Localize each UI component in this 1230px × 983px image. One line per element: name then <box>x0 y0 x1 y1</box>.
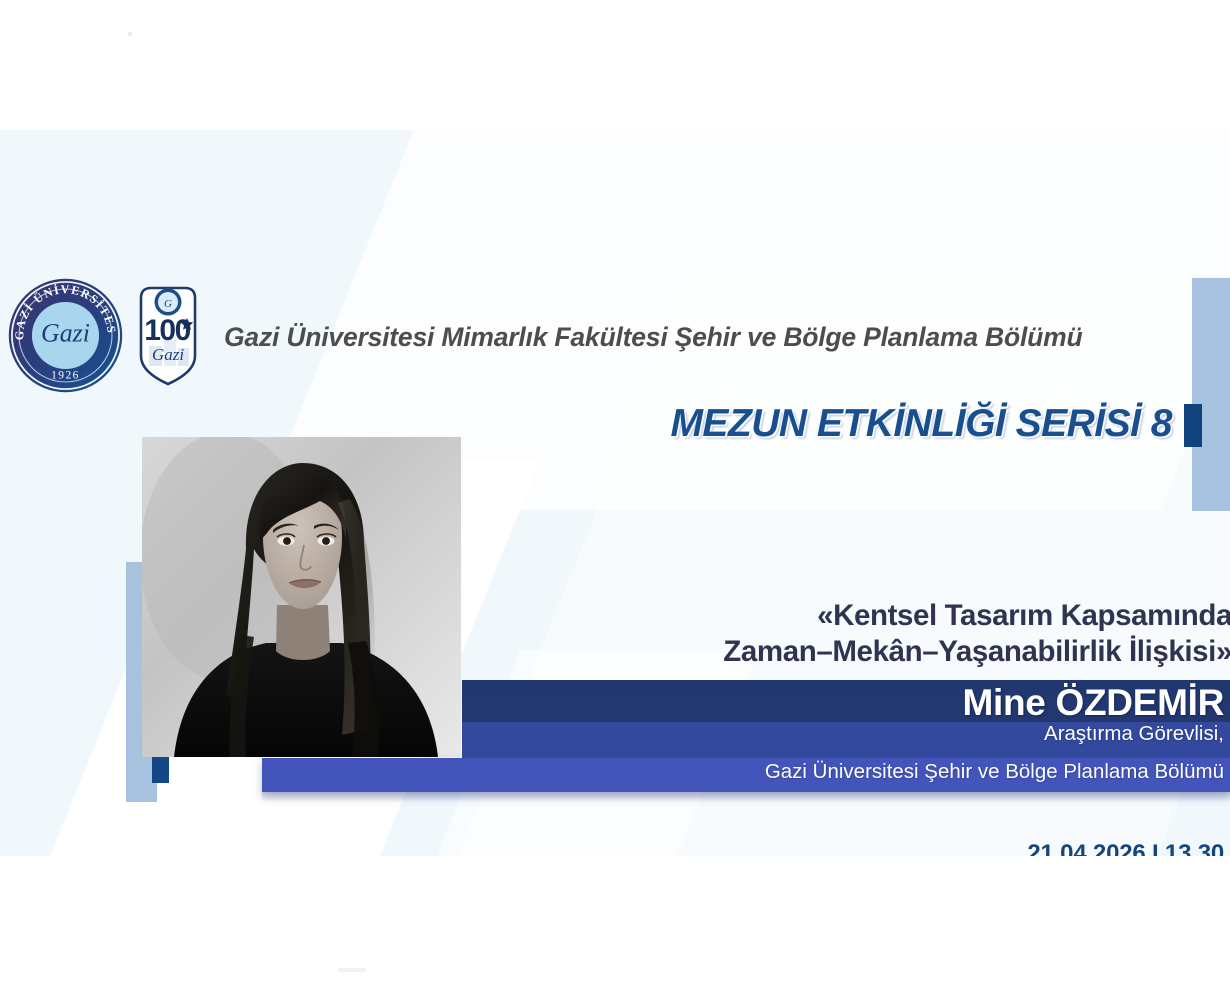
svg-text:100: 100 <box>144 314 190 347</box>
accent-bar-right-light <box>1192 278 1230 511</box>
talk-title-line-1: «Kentsel Tasarım Kapsamında <box>420 598 1230 634</box>
talk-title-line-2: Zaman–Mekân–Yaşanabilirlik İlişkisi» <box>420 634 1230 670</box>
speaker-role-line-1: Araştırma Görevlisi, <box>500 722 1224 746</box>
event-datetime: 21.04.2026 I 13.30 <box>300 840 1224 856</box>
speaker-role-line-2: Gazi Üniversitesi Şehir ve Bölge Planlam… <box>400 760 1224 784</box>
accent-bar-right-dark <box>1184 404 1202 447</box>
page-artifact-bottom-mark <box>338 968 366 972</box>
svg-text:Gazi: Gazi <box>41 318 90 347</box>
department-line: Gazi Üniversitesi Mimarlık Fakültesi Şeh… <box>224 322 1184 353</box>
svg-text:1926: 1926 <box>51 370 80 382</box>
speaker-photo <box>142 437 461 757</box>
logo-row: GAZİ ÜNİVERSİTESİ Gazi 1926 G 100 Gazi <box>8 278 199 393</box>
poster-root: GAZİ ÜNİVERSİTESİ Gazi 1926 G 100 Gazi <box>0 0 1230 983</box>
gazi-100th-anniversary-badge-icon: G 100 Gazi <box>137 284 199 388</box>
svg-text:Gazi: Gazi <box>152 345 184 364</box>
name-banner-shadow <box>262 792 1230 802</box>
gazi-university-seal-icon: GAZİ ÜNİVERSİTESİ Gazi 1926 <box>8 278 123 393</box>
slide-canvas: GAZİ ÜNİVERSİTESİ Gazi 1926 G 100 Gazi <box>0 130 1230 856</box>
svg-text:G: G <box>164 298 172 310</box>
talk-title: «Kentsel Tasarım Kapsamında Zaman–Mekân–… <box>420 598 1230 670</box>
speaker-portrait-image <box>142 437 461 757</box>
page-artifact-top-dot <box>128 32 132 36</box>
speaker-name: Mine ÖZDEMİR <box>500 682 1224 724</box>
